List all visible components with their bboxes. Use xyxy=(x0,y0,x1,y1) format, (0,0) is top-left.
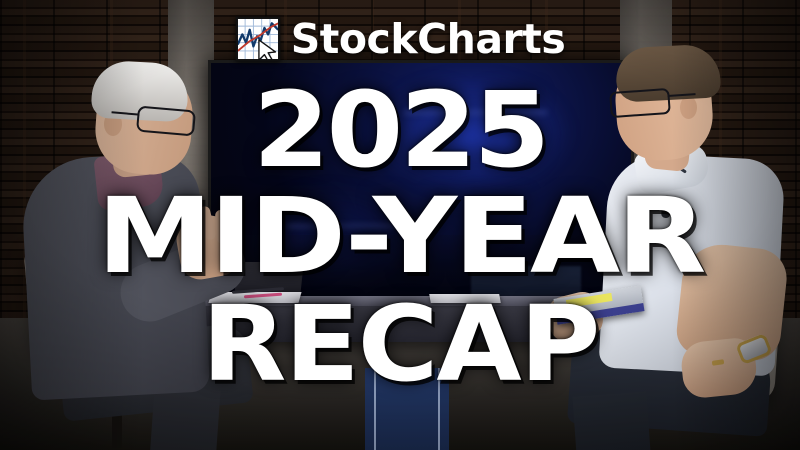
headline-line-1: 2025 xyxy=(0,86,800,175)
thumbnail-overlay: StockCharts 2025 MID-YEAR RECAP xyxy=(0,0,800,450)
video-thumbnail: StockCharts 2025 MID-YEAR RECAP xyxy=(0,0,800,450)
brand-name: StockCharts xyxy=(291,19,566,60)
stockcharts-logo-icon xyxy=(235,16,281,62)
headline-line-3: RECAP xyxy=(0,300,800,389)
brand-lockup: StockCharts xyxy=(0,16,800,62)
headline-line-2: MID-YEAR xyxy=(0,192,800,281)
